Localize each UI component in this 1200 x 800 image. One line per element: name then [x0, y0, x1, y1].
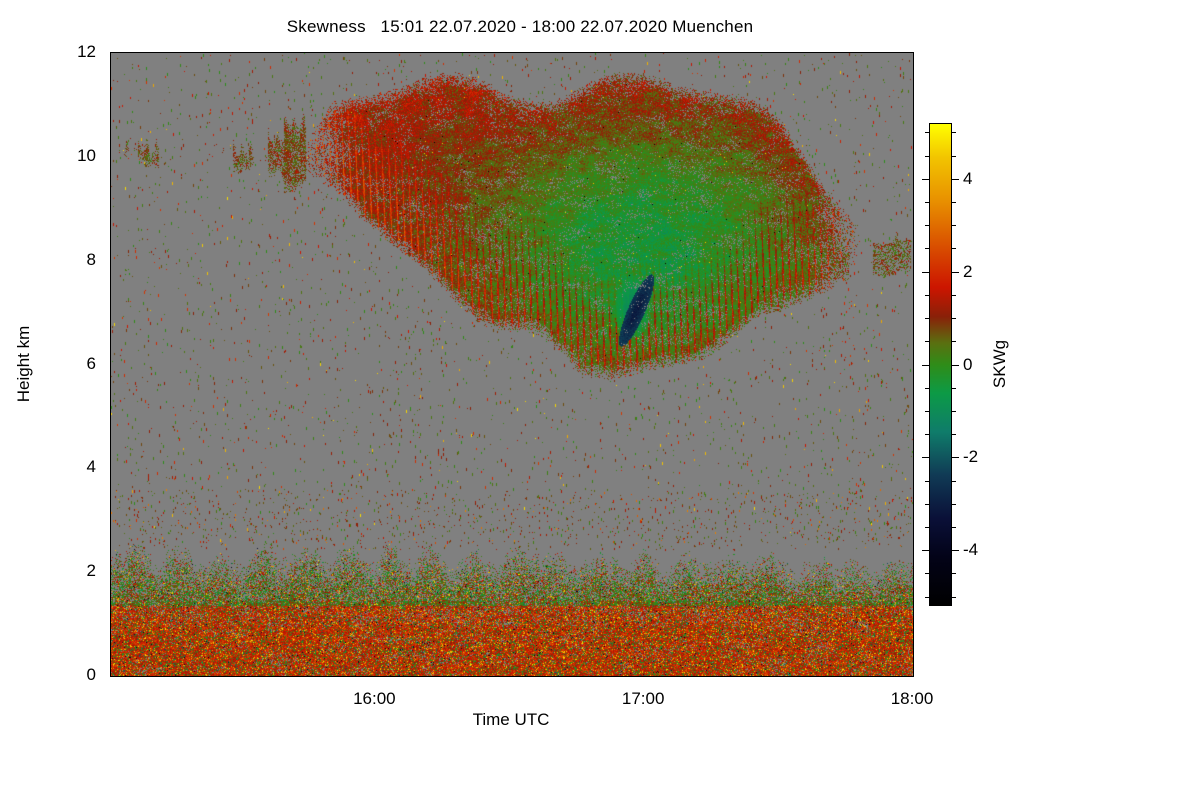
- colorbar-tick-minor: [952, 504, 956, 505]
- colorbar-tick-left: [925, 527, 929, 528]
- x-tick-major: [913, 676, 914, 677]
- colorbar-tick-left: [925, 411, 929, 412]
- y-tick-minor: [110, 313, 111, 314]
- y-tick-minor-right: [913, 183, 914, 184]
- colorbar-tick-left: [925, 202, 929, 203]
- colorbar-tick-left: [925, 504, 929, 505]
- plot-title: Skewness 15:01 22.07.2020 - 18:00 22.07.…: [0, 17, 1040, 37]
- y-tick-minor: [110, 131, 111, 132]
- x-tick-minor-top: [868, 52, 869, 53]
- x-tick-minor: [241, 676, 242, 677]
- colorbar-tick-left: [925, 248, 929, 249]
- y-tick-major: [110, 468, 111, 469]
- y-tick-minor: [110, 650, 111, 651]
- colorbar-tick-minor: [952, 248, 956, 249]
- x-tick-major: [644, 676, 645, 677]
- colorbar-tick-minor: [952, 573, 956, 574]
- colorbar-tick-minor: [952, 318, 956, 319]
- y-tick-minor: [110, 79, 111, 80]
- x-tick-minor: [779, 676, 780, 677]
- colorbar-tick-left: [922, 550, 929, 551]
- x-tick-minor: [599, 676, 600, 677]
- y-tick-minor-right: [913, 494, 914, 495]
- y-tick-major: [110, 676, 111, 677]
- colorbar-tick-left: [925, 481, 929, 482]
- y-tick-minor: [110, 442, 111, 443]
- y-tick-minor-right: [913, 624, 914, 625]
- y-tick-minor: [110, 624, 111, 625]
- colorbar-tick-major: [952, 272, 959, 273]
- x-tick-minor-top: [151, 52, 152, 53]
- skewness-heatmap: [111, 53, 913, 676]
- colorbar-tick-minor: [952, 132, 956, 133]
- colorbar-tick-minor: [952, 388, 956, 389]
- y-tick-minor-right: [913, 546, 914, 547]
- y-tick-minor: [110, 287, 111, 288]
- colorbar-tick-left: [922, 457, 929, 458]
- y-axis-title: Height km: [14, 326, 34, 403]
- y-tick-minor-right: [913, 598, 914, 599]
- x-tick-label: 17:00: [622, 689, 665, 709]
- colorbar-tick-label: 0: [963, 355, 972, 375]
- y-tick-major-right: [913, 261, 914, 262]
- y-tick-label: 4: [87, 457, 96, 477]
- colorbar-gradient: [929, 123, 952, 606]
- colorbar-tick-left: [925, 132, 929, 133]
- x-tick-minor: [196, 676, 197, 677]
- colorbar-tick-minor: [952, 341, 956, 342]
- colorbar-tick-label: -2: [963, 447, 978, 467]
- x-tick-minor: [286, 676, 287, 677]
- y-tick-minor-right: [913, 209, 914, 210]
- colorbar-tick-major: [952, 457, 959, 458]
- x-tick-minor-top: [241, 52, 242, 53]
- x-axis-title: Time UTC: [473, 710, 550, 730]
- y-tick-minor-right: [913, 79, 914, 80]
- y-tick-minor: [110, 520, 111, 521]
- colorbar-tick-left: [922, 272, 929, 273]
- y-tick-label: 2: [87, 561, 96, 581]
- colorbar-tick-major: [952, 365, 959, 366]
- colorbar-tick-left: [925, 573, 929, 574]
- colorbar-tick-left: [925, 156, 929, 157]
- x-tick-minor: [420, 676, 421, 677]
- x-tick-minor-top: [599, 52, 600, 53]
- y-tick-major-right: [913, 53, 914, 54]
- x-tick-major-top: [375, 52, 376, 53]
- colorbar-tick-left: [925, 295, 929, 296]
- colorbar-tick-minor: [952, 156, 956, 157]
- x-tick-minor: [331, 676, 332, 677]
- colorbar-tick-left: [925, 388, 929, 389]
- colorbar-tick-left: [925, 434, 929, 435]
- y-tick-label: 0: [87, 665, 96, 685]
- colorbar-tick-minor: [952, 202, 956, 203]
- colorbar-title: SKWg: [990, 340, 1010, 388]
- y-tick-label: 6: [87, 354, 96, 374]
- y-tick-minor-right: [913, 520, 914, 521]
- colorbar-tick-major: [952, 179, 959, 180]
- figure-root: Skewness 15:01 22.07.2020 - 18:00 22.07.…: [0, 0, 1200, 800]
- x-tick-minor: [465, 676, 466, 677]
- y-tick-minor-right: [913, 105, 914, 106]
- x-tick-minor: [151, 676, 152, 677]
- x-tick-minor: [868, 676, 869, 677]
- x-tick-major-top: [644, 52, 645, 53]
- colorbar-tick-left: [922, 179, 929, 180]
- y-tick-minor-right: [913, 650, 914, 651]
- x-tick-minor-top: [555, 52, 556, 53]
- y-tick-label: 10: [77, 146, 96, 166]
- colorbar-tick-minor: [952, 434, 956, 435]
- colorbar: -4-2024: [929, 123, 952, 606]
- colorbar-tick-left: [925, 597, 929, 598]
- x-tick-minor-top: [331, 52, 332, 53]
- x-tick-minor-top: [286, 52, 287, 53]
- colorbar-tick-label: 4: [963, 169, 972, 189]
- colorbar-tick-minor: [952, 527, 956, 528]
- y-tick-major-right: [913, 157, 914, 158]
- x-tick-minor: [689, 676, 690, 677]
- y-tick-major-right: [913, 572, 914, 573]
- colorbar-tick-minor: [952, 597, 956, 598]
- y-tick-minor-right: [913, 235, 914, 236]
- x-tick-major: [375, 676, 376, 677]
- y-tick-minor: [110, 494, 111, 495]
- y-tick-major-right: [913, 365, 914, 366]
- colorbar-tick-minor: [952, 295, 956, 296]
- y-tick-major: [110, 365, 111, 366]
- y-tick-major: [110, 572, 111, 573]
- y-tick-label: 12: [77, 42, 96, 62]
- x-tick-minor-top: [823, 52, 824, 53]
- x-tick-minor: [555, 676, 556, 677]
- x-tick-minor-top: [734, 52, 735, 53]
- y-tick-minor-right: [913, 131, 914, 132]
- y-tick-minor-right: [913, 390, 914, 391]
- x-tick-label: 16:00: [353, 689, 396, 709]
- x-tick-minor: [823, 676, 824, 677]
- y-tick-minor: [110, 209, 111, 210]
- y-tick-minor-right: [913, 442, 914, 443]
- colorbar-tick-minor: [952, 225, 956, 226]
- y-tick-minor: [110, 105, 111, 106]
- x-tick-minor-top: [465, 52, 466, 53]
- y-tick-minor: [110, 416, 111, 417]
- colorbar-tick-left: [922, 365, 929, 366]
- y-tick-minor: [110, 598, 111, 599]
- plot-area: [110, 52, 914, 677]
- y-tick-minor-right: [913, 313, 914, 314]
- y-tick-major: [110, 157, 111, 158]
- colorbar-tick-label: 2: [963, 262, 972, 282]
- colorbar-tick-left: [925, 225, 929, 226]
- x-tick-major-top: [913, 52, 914, 53]
- y-tick-minor: [110, 183, 111, 184]
- y-tick-major-right: [913, 468, 914, 469]
- colorbar-tick-label: -4: [963, 540, 978, 560]
- y-tick-minor: [110, 390, 111, 391]
- x-tick-minor-top: [779, 52, 780, 53]
- colorbar-tick-left: [925, 318, 929, 319]
- x-tick-minor-top: [689, 52, 690, 53]
- colorbar-tick-minor: [952, 411, 956, 412]
- x-tick-minor-top: [510, 52, 511, 53]
- colorbar-tick-major: [952, 550, 959, 551]
- x-tick-minor: [510, 676, 511, 677]
- y-tick-major: [110, 261, 111, 262]
- y-tick-minor-right: [913, 287, 914, 288]
- colorbar-tick-left: [925, 341, 929, 342]
- y-tick-minor: [110, 235, 111, 236]
- y-tick-label: 8: [87, 250, 96, 270]
- x-tick-minor-top: [420, 52, 421, 53]
- x-tick-label: 18:00: [891, 689, 934, 709]
- y-tick-major: [110, 53, 111, 54]
- y-tick-major-right: [913, 676, 914, 677]
- y-tick-minor-right: [913, 416, 914, 417]
- y-tick-minor-right: [913, 339, 914, 340]
- x-tick-minor: [734, 676, 735, 677]
- y-tick-minor: [110, 546, 111, 547]
- x-tick-minor-top: [196, 52, 197, 53]
- colorbar-tick-minor: [952, 481, 956, 482]
- y-tick-minor: [110, 339, 111, 340]
